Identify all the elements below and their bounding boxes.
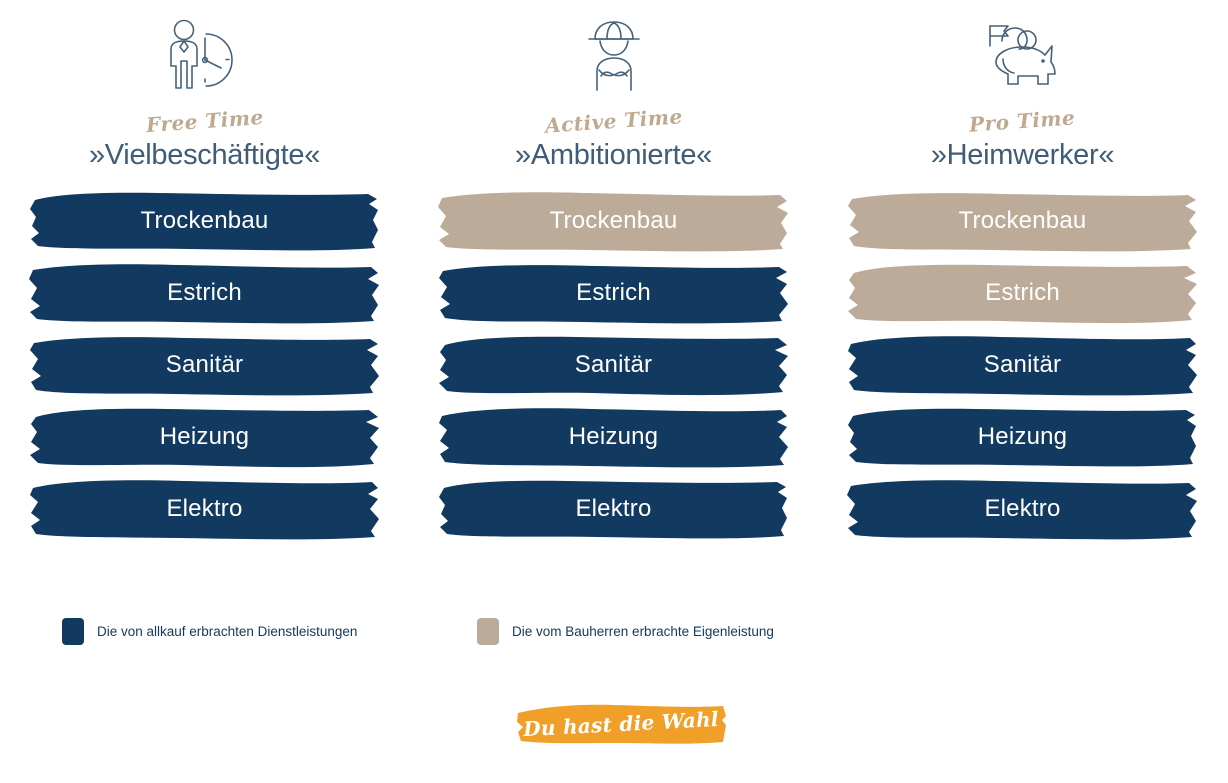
trade-bar-estrich: Estrich	[28, 262, 381, 324]
legend-swatch-service	[62, 618, 84, 645]
package-title: »Ambitionierte«	[515, 136, 712, 174]
trade-bar-heizung: Heizung	[437, 406, 790, 468]
trade-bar-elektro: Elektro	[437, 478, 790, 540]
legend-item-service: Die von allkauf erbrachten Dienstleistun…	[62, 618, 477, 645]
trade-bar-elektro: Elektro	[28, 478, 381, 540]
bar-label: Estrich	[985, 279, 1060, 307]
package-columns: Free Time »Vielbeschäftigte« TrockenbauE…	[0, 0, 1228, 550]
bar-label: Trockenbau	[141, 207, 269, 235]
trade-bar-sanitar: Sanitär	[28, 334, 381, 396]
package-title: »Vielbeschäftigte«	[89, 136, 320, 174]
bar-label: Sanitär	[166, 351, 243, 379]
trade-bar-elektro: Elektro	[846, 478, 1199, 540]
construction-worker-icon	[575, 8, 653, 104]
legend-swatch-owner	[477, 618, 499, 645]
trade-bar-heizung: Heizung	[846, 406, 1199, 468]
package-script-label: Free Time	[145, 104, 264, 138]
bar-label: Elektro	[166, 495, 242, 523]
package-bars: TrockenbauEstrichSanitärHeizungElektro	[28, 190, 381, 550]
legend-label: Die von allkauf erbrachten Dienstleistun…	[97, 624, 357, 639]
piggy-bank-icon	[980, 8, 1066, 104]
bar-label: Heizung	[569, 423, 658, 451]
legend: Die von allkauf erbrachten Dienstleistun…	[62, 618, 774, 645]
bar-label: Heizung	[978, 423, 1067, 451]
comparison-infographic: Free Time »Vielbeschäftigte« TrockenbauE…	[0, 0, 1228, 783]
trade-bar-trockenbau: Trockenbau	[437, 190, 790, 252]
du-hast-die-wahl-badge: Du hast die Wahl	[514, 700, 728, 748]
bar-label: Estrich	[167, 279, 242, 307]
package-column-ambitionierte: Active Time »Ambitionierte« TrockenbauEs…	[409, 0, 818, 550]
bar-label: Elektro	[575, 495, 651, 523]
legend-label: Die vom Bauherren erbrachte Eigenleistun…	[512, 624, 774, 639]
person-with-clock-icon	[159, 8, 251, 104]
package-bars: TrockenbauEstrichSanitärHeizungElektro	[437, 190, 790, 550]
package-script-label: Active Time	[544, 103, 683, 139]
bar-label: Trockenbau	[550, 207, 678, 235]
package-bars: TrockenbauEstrichSanitärHeizungElektro	[846, 190, 1199, 550]
bar-label: Elektro	[984, 495, 1060, 523]
trade-bar-sanitar: Sanitär	[437, 334, 790, 396]
trade-bar-estrich: Estrich	[437, 262, 790, 324]
bar-label: Heizung	[160, 423, 249, 451]
bar-label: Sanitär	[575, 351, 652, 379]
trade-bar-trockenbau: Trockenbau	[846, 190, 1199, 252]
bar-label: Sanitär	[984, 351, 1061, 379]
legend-item-owner: Die vom Bauherren erbrachte Eigenleistun…	[477, 618, 774, 645]
bar-label: Trockenbau	[959, 207, 1087, 235]
package-title: »Heimwerker«	[931, 136, 1114, 174]
package-column-heimwerker: Pro Time »Heimwerker« TrockenbauEstrichS…	[818, 0, 1227, 550]
package-script-label: Pro Time	[969, 104, 1077, 137]
trade-bar-trockenbau: Trockenbau	[28, 190, 381, 252]
trade-bar-estrich: Estrich	[846, 262, 1199, 324]
trade-bar-heizung: Heizung	[28, 406, 381, 468]
package-column-vielbeschaeftigte: Free Time »Vielbeschäftigte« TrockenbauE…	[0, 0, 409, 550]
bar-label: Estrich	[576, 279, 651, 307]
trade-bar-sanitar: Sanitär	[846, 334, 1199, 396]
